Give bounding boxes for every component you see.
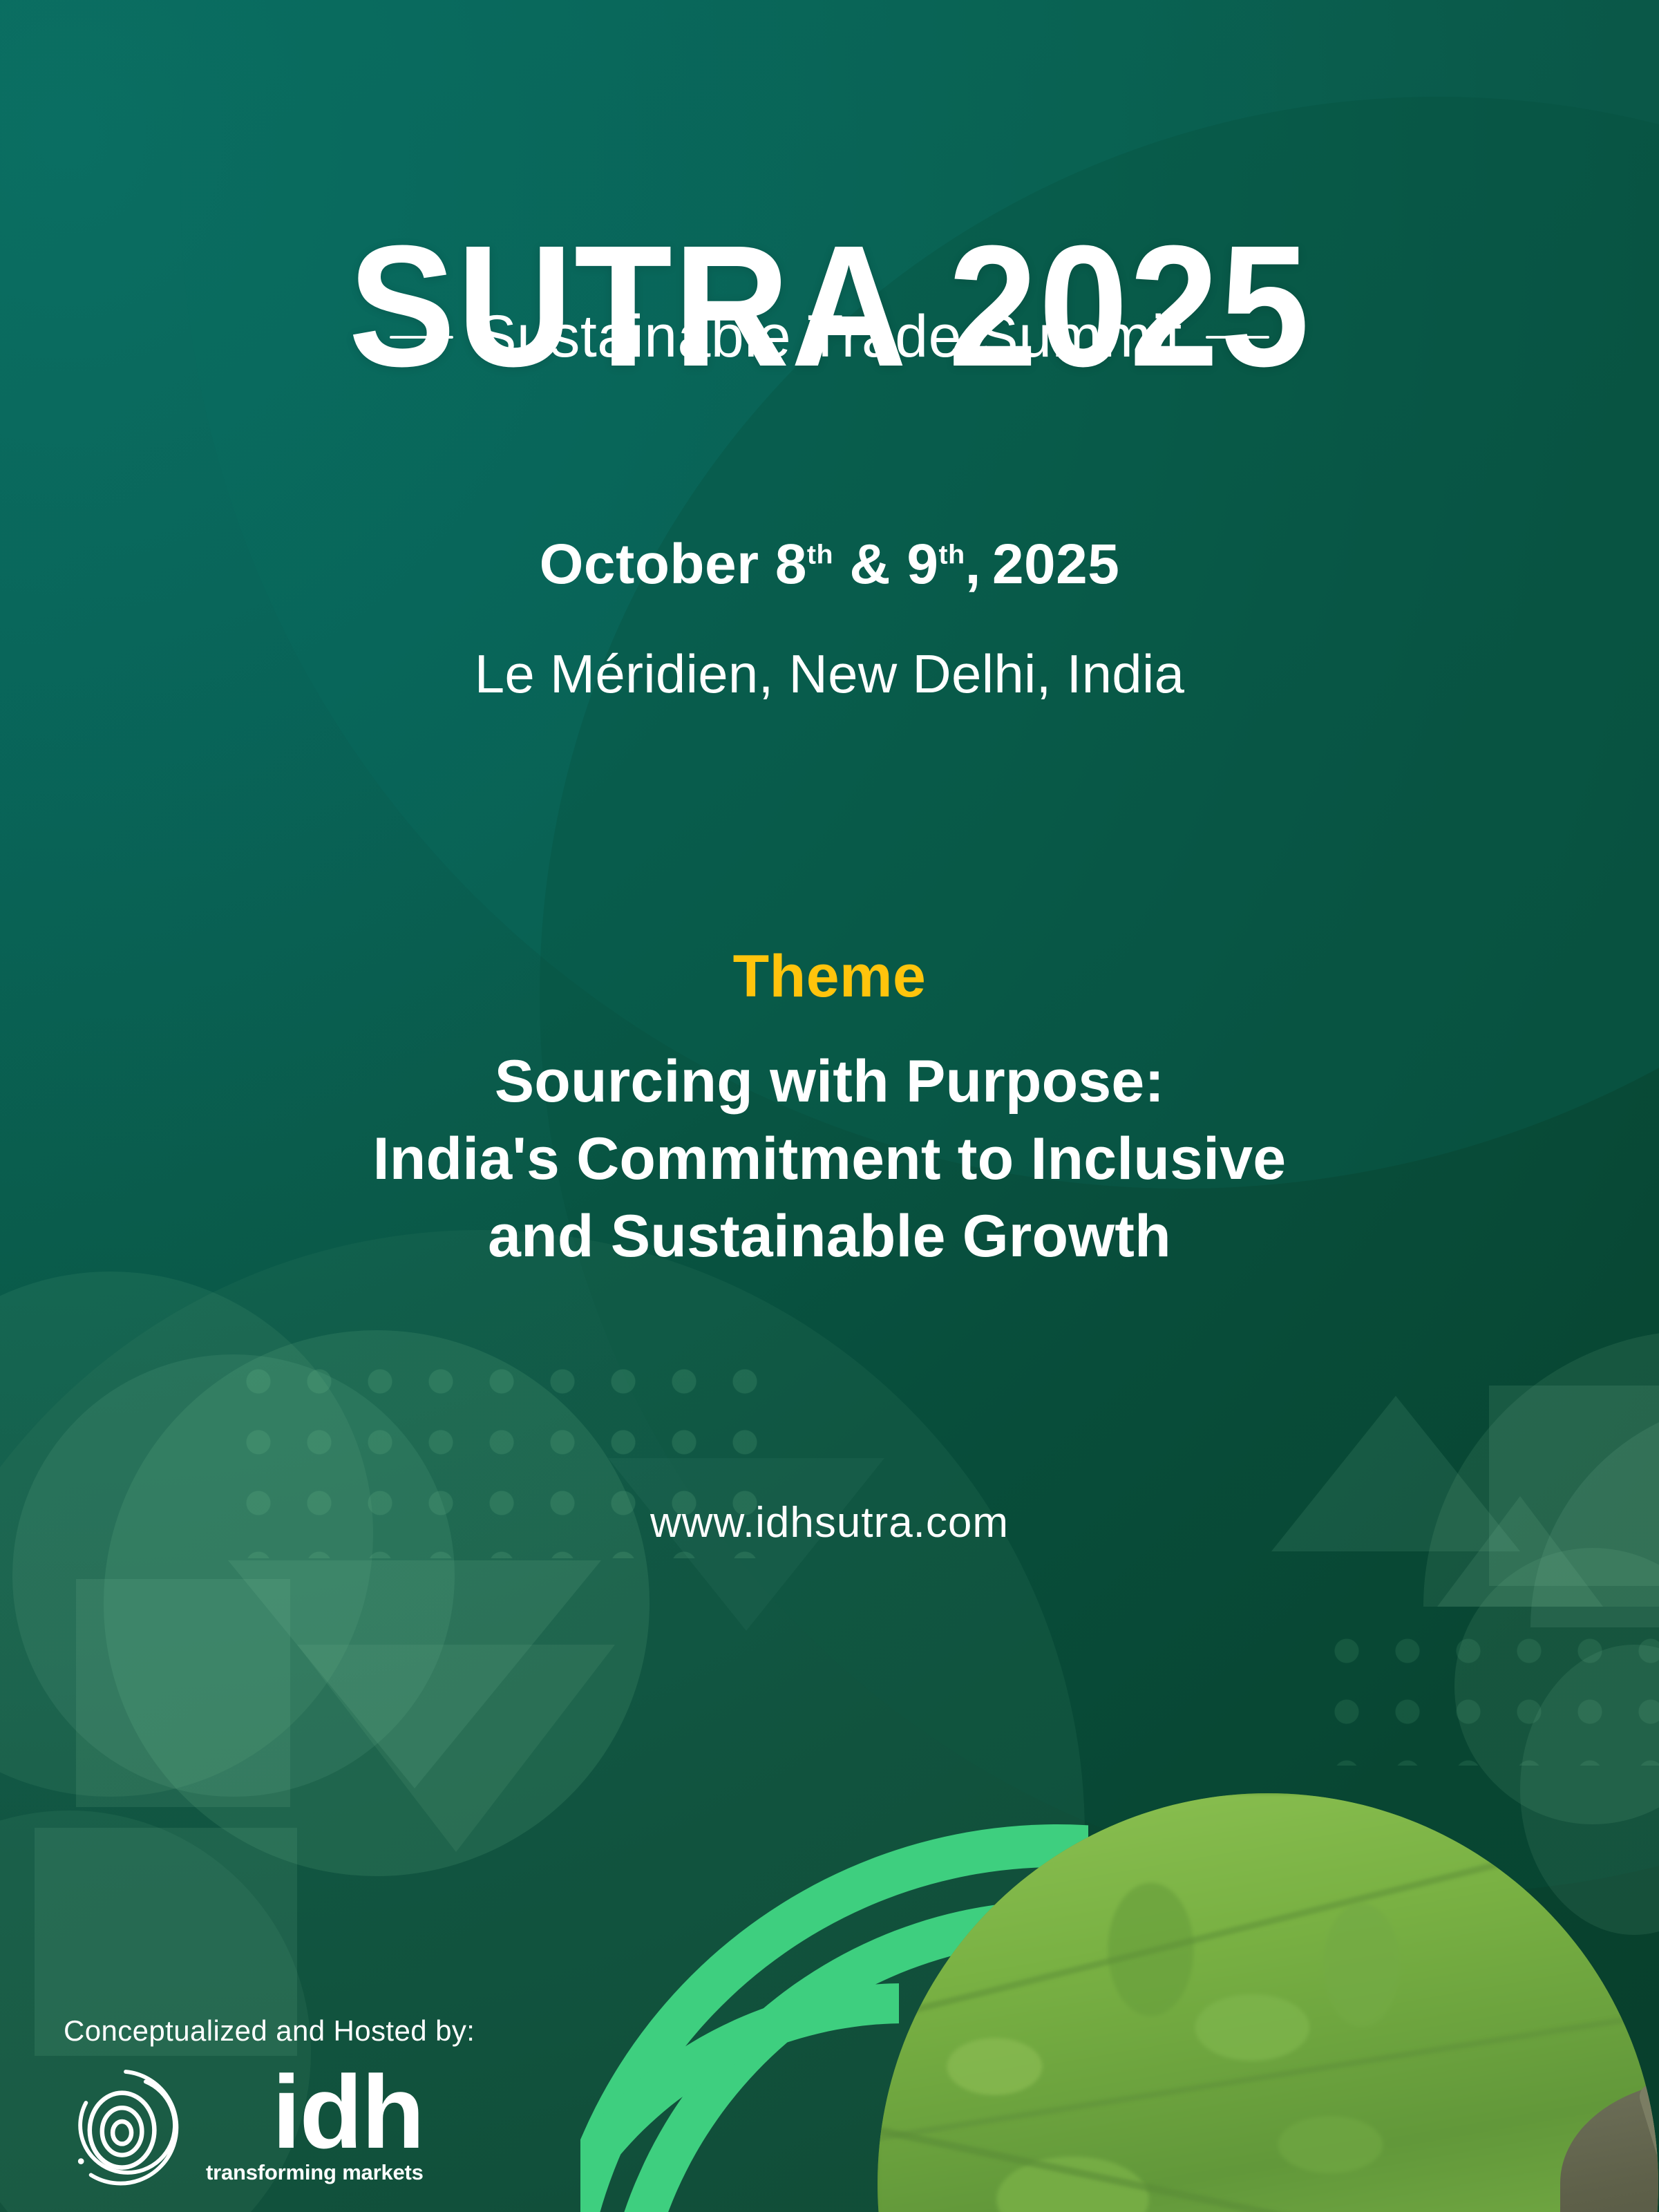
idh-concentric-circles-icon xyxy=(64,2066,188,2190)
theme-line-1: Sourcing with Purpose: xyxy=(0,1043,1659,1121)
idh-wordmark: idh transforming markets xyxy=(206,2066,424,2185)
date-conjunction: & xyxy=(849,533,891,596)
subtitle-rule-left-icon xyxy=(390,336,453,339)
hosted-by-label: Conceptualized and Hosted by: xyxy=(64,2014,506,2048)
event-website[interactable]: www.idhsutra.com xyxy=(0,1498,1659,1547)
sutra-2025-poster: SUTRA 2025 Sustainable Trade Summit Octo… xyxy=(0,0,1659,2212)
date-day-second: 9 xyxy=(907,533,938,596)
date-day-first: 8 xyxy=(775,533,807,596)
theme-label: Theme xyxy=(0,943,1659,1011)
date-day-first-suffix: th xyxy=(807,540,833,570)
date-day-second-suffix: th xyxy=(939,540,965,570)
poster-subtitle: Sustainable Trade Summit xyxy=(477,303,1182,371)
idh-tagline: transforming markets xyxy=(206,2160,424,2185)
event-venue: Le Méridien, New Delhi, India xyxy=(0,643,1659,706)
theme-line-2: India's Commitment to Inclusive xyxy=(0,1121,1659,1198)
hosted-by-block: Conceptualized and Hosted by: idh transf… xyxy=(64,2014,506,2190)
event-date: October 8th & 9th,2025 xyxy=(0,532,1659,597)
theme-line-3: and Sustainable Growth xyxy=(0,1198,1659,1276)
poster-content: SUTRA 2025 Sustainable Trade Summit Octo… xyxy=(0,0,1659,2212)
subtitle-rule-right-icon xyxy=(1206,336,1269,339)
idh-logo: idh transforming markets xyxy=(64,2066,506,2190)
date-month: October xyxy=(540,533,759,596)
theme-text: Sourcing with Purpose: India's Commitmen… xyxy=(0,1043,1659,1275)
idh-name: idh xyxy=(272,2070,424,2155)
date-year: 2025 xyxy=(992,533,1119,596)
poster-subtitle-row: Sustainable Trade Summit xyxy=(0,303,1659,371)
date-comma: , xyxy=(965,533,981,596)
